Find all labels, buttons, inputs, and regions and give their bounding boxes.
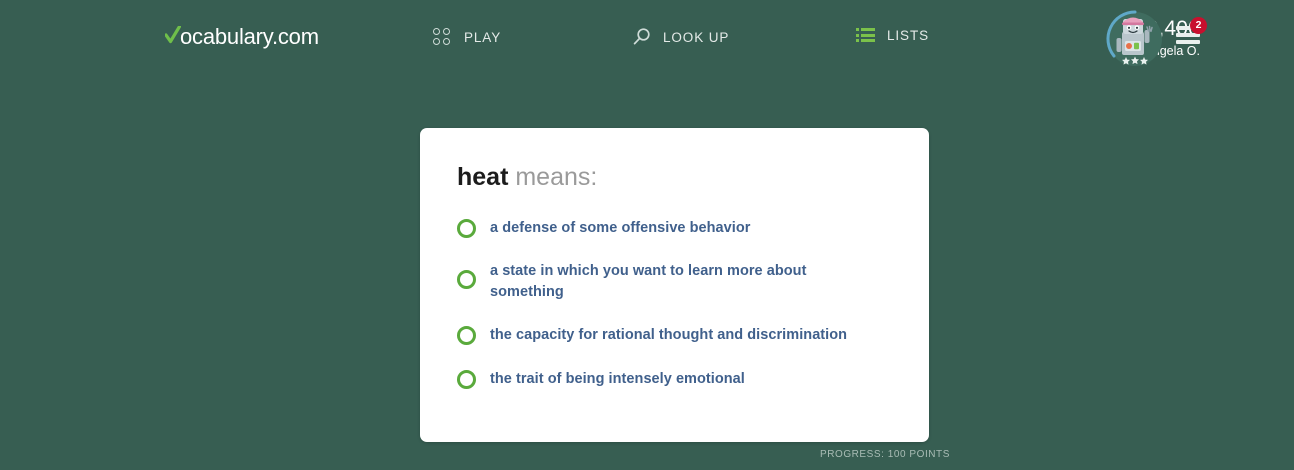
quiz-option-label: the trait of being intensely emotional <box>490 369 745 390</box>
check-icon <box>166 24 180 44</box>
quiz-option[interactable]: the capacity for rational thought and di… <box>457 325 892 346</box>
hamburger-menu-icon[interactable]: 2 <box>1176 22 1206 50</box>
list-icon <box>856 27 876 43</box>
radio-circle-icon[interactable] <box>457 219 476 238</box>
radio-circle-icon[interactable] <box>457 326 476 345</box>
nav-label-look-up: LOOK UP <box>663 30 729 45</box>
notification-badge: 2 <box>1190 17 1207 34</box>
quiz-option[interactable]: the trait of being intensely emotional <box>457 369 892 390</box>
robot-avatar[interactable] <box>1104 8 1166 70</box>
grid-dots-icon <box>433 27 453 47</box>
nav-item-look-up[interactable]: LOOK UP <box>632 27 729 47</box>
logo-text: ocabulary.com <box>180 24 319 50</box>
quiz-option-label: a state in which you want to learn more … <box>490 261 850 303</box>
radio-circle-icon[interactable] <box>457 270 476 289</box>
quiz-option[interactable]: a state in which you want to learn more … <box>457 261 892 303</box>
radio-circle-icon[interactable] <box>457 370 476 389</box>
quiz-option[interactable]: a defense of some offensive behavior <box>457 218 892 239</box>
site-header: ocabulary.com PLAY LOOK UP LISTS 182,400… <box>0 0 1294 76</box>
quiz-word: heat <box>457 163 508 191</box>
quiz-card: heat means: a defense of some offensive … <box>420 128 929 442</box>
progress-label: PROGRESS: 100 POINTS <box>820 449 950 460</box>
nav-item-lists[interactable]: LISTS <box>856 27 929 43</box>
nav-label-play: PLAY <box>464 30 501 45</box>
quiz-prompt: heat means: <box>457 162 892 192</box>
search-icon <box>632 27 652 47</box>
quiz-option-label: a defense of some offensive behavior <box>490 218 750 239</box>
nav-label-lists: LISTS <box>887 28 929 43</box>
quiz-option-label: the capacity for rational thought and di… <box>490 325 847 346</box>
site-logo[interactable]: ocabulary.com <box>166 24 319 50</box>
quiz-prompt-suffix: means: <box>508 163 597 191</box>
nav-item-play[interactable]: PLAY <box>433 27 501 47</box>
